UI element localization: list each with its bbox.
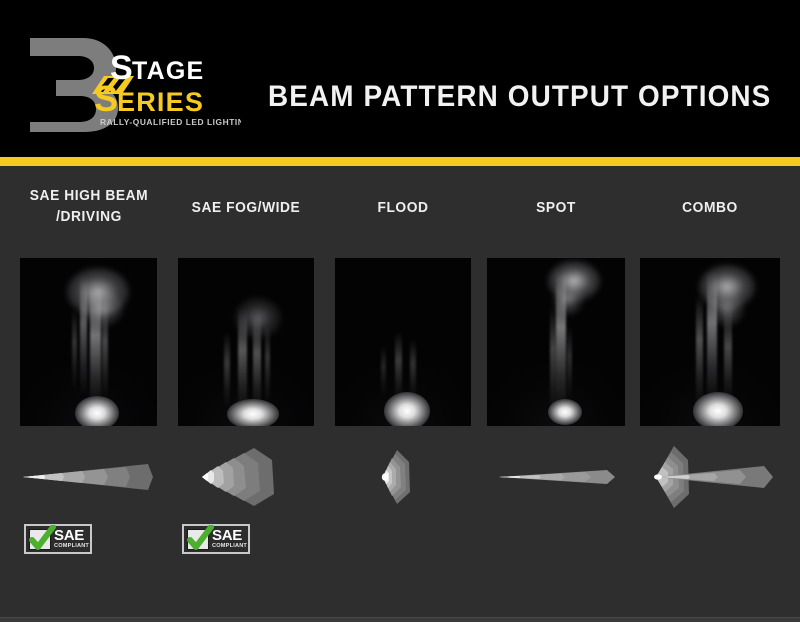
stage-series-logo: S TAGE S ERIES RALLY-QUALIFIED LED LIGHT… [26, 24, 241, 134]
beam-option-spot[interactable]: SPOT [487, 166, 625, 617]
badge-title: SAE [54, 528, 89, 543]
logo-artwork: S TAGE S ERIES RALLY-QUALIFIED LED LIGHT… [26, 24, 241, 134]
beam-diagram-spot [487, 444, 625, 510]
beam-pattern-infographic: S TAGE S ERIES RALLY-QUALIFIED LED LIGHT… [0, 0, 800, 622]
sae-compliant-badge: SAE COMPLIANT [24, 524, 92, 554]
beam-diagram-driving [20, 444, 157, 510]
logo-tagline: RALLY-QUALIFIED LED LIGHTING [100, 117, 241, 127]
beam-photo-sae-fog-wide [178, 258, 314, 426]
check-icon [29, 529, 51, 550]
badge-title: SAE [212, 528, 247, 543]
beam-options-grid: SAE HIGH BEAM /DRIVING [0, 166, 800, 617]
beam-option-sae-high-beam-driving[interactable]: SAE HIGH BEAM /DRIVING [20, 166, 157, 617]
beam-option-flood[interactable]: FLOOD [335, 166, 471, 617]
beam-option-sae-fog-wide[interactable]: SAE FOG/WIDE [178, 166, 314, 617]
sae-compliant-badge: SAE COMPLIANT [182, 524, 250, 554]
logo-series-bigs: S [94, 78, 118, 119]
beam-option-label: FLOOD [338, 198, 467, 219]
badge-subtitle: COMPLIANT [212, 544, 247, 550]
beam-option-label: SAE HIGH BEAM /DRIVING [0, 186, 179, 228]
beam-photo-flood [335, 258, 471, 426]
beam-diagram-combo [640, 444, 780, 510]
check-icon [187, 529, 209, 550]
beam-option-label: SPOT [490, 198, 621, 219]
page-title: BEAM PATTERN OUTPUT OPTIONS [268, 80, 752, 114]
beam-photo-combo [640, 258, 780, 426]
beam-diagram-flood [335, 444, 471, 510]
badge-subtitle: COMPLIANT [54, 544, 89, 550]
logo-series-rest: ERIES [117, 87, 204, 117]
beam-option-combo[interactable]: COMBO [640, 166, 780, 617]
beam-option-label: SAE FOG/WIDE [181, 198, 310, 219]
footer-strip [0, 617, 800, 622]
beam-photo-sae-high-beam-driving [20, 258, 157, 426]
logo-stage-rest: TAGE [132, 57, 204, 85]
accent-divider [0, 157, 800, 166]
header-bar: S TAGE S ERIES RALLY-QUALIFIED LED LIGHT… [0, 0, 800, 157]
beam-option-label: COMBO [644, 198, 777, 219]
beam-photo-spot [487, 258, 625, 426]
beam-diagram-fog-wide [178, 444, 314, 510]
